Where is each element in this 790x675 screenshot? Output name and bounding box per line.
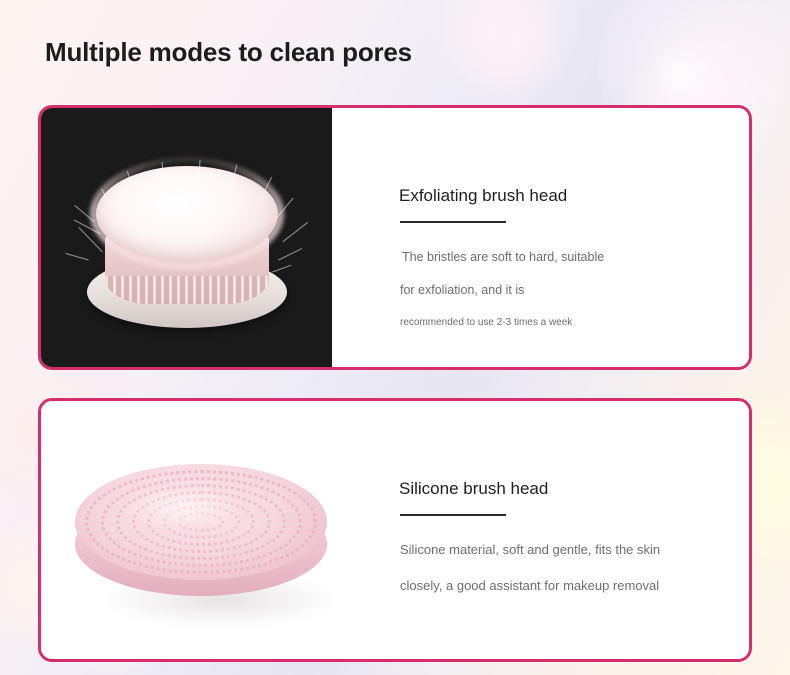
page-title: Multiple modes to clean pores [45,37,412,68]
card-title: Silicone brush head [399,479,548,499]
feature-card-silicone: Silicone brush head Silicone material, s… [38,398,752,662]
silicone-nub-face [75,464,327,580]
bokeh-circle [430,0,580,95]
product-feature-page: Multiple modes to clean pores Exfoliatin… [0,0,790,675]
description-line: recommended to use 2-3 times a week [400,317,572,328]
card-title: Exfoliating brush head [399,186,567,206]
feature-card-exfoliating: Exfoliating brush head The bristles are … [38,105,752,370]
exfoliating-brush-head-photo [41,108,332,367]
stray-bristle [272,264,291,272]
title-divider [400,514,506,516]
description-line: for exfoliation, and it is [400,283,524,297]
exfoliating-text-pane: Exfoliating brush head The bristles are … [332,108,749,367]
description-line: Silicone material, soft and gentle, fits… [400,542,660,557]
silicone-brush-head-photo [41,401,371,659]
silicone-brush-illustration [67,450,345,630]
stray-bristle [278,248,302,260]
description-line: closely, a good assistant for makeup rem… [400,578,659,593]
stray-bristle [65,253,88,261]
bokeh-circle [648,44,708,104]
stray-bristle [282,222,308,242]
title-divider [400,221,506,223]
exfoliating-brush-illustration [72,148,302,338]
highlight [123,486,243,530]
silicone-text-pane: Silicone brush head Silicone material, s… [371,401,749,659]
brush-bristle-top [96,166,278,262]
description-line: The bristles are soft to hard, suitable [402,250,604,264]
